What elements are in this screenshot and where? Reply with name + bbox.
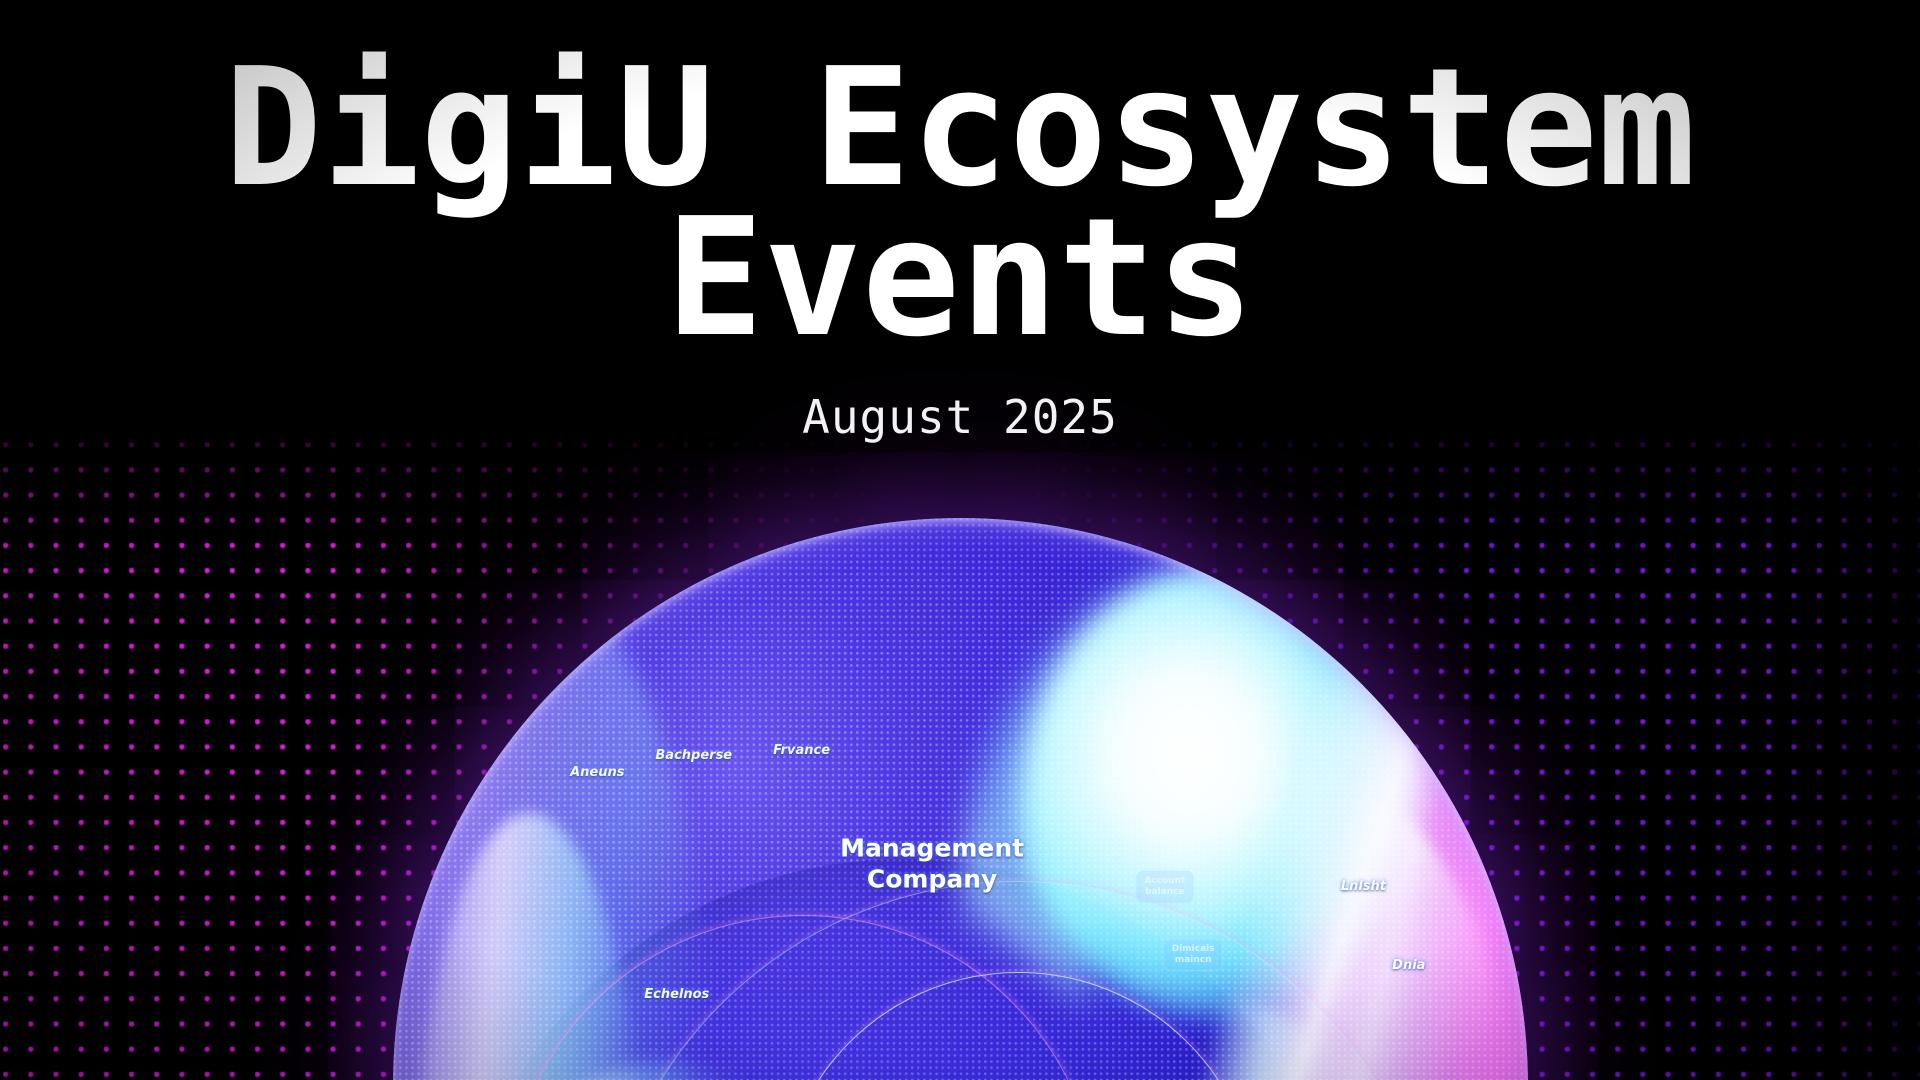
sphere-body: ManagementCompanyTechnologicalFrameworkT…: [393, 518, 1528, 1080]
sphere-chip-2: Dimicalsmaincn: [1164, 939, 1223, 972]
sphere-chip-2-line: maincn: [1172, 955, 1215, 966]
sphere-chip-1-line: Account: [1144, 876, 1185, 887]
sphere-chip-1-line: balance: [1144, 887, 1185, 898]
sphere-chip-2-line: Dimicals: [1172, 944, 1215, 955]
sphere-chip-1: Accountbalance: [1136, 871, 1193, 904]
page-title: DigiU Ecosystem Events: [0, 0, 1920, 354]
poster-header: DigiU Ecosystem Events August 2025: [0, 0, 1920, 444]
ecosystem-sphere: ManagementCompanyTechnologicalFrameworkT…: [393, 518, 1528, 1080]
poster-canvas: ManagementCompanyTechnologicalFrameworkT…: [0, 0, 1920, 1080]
